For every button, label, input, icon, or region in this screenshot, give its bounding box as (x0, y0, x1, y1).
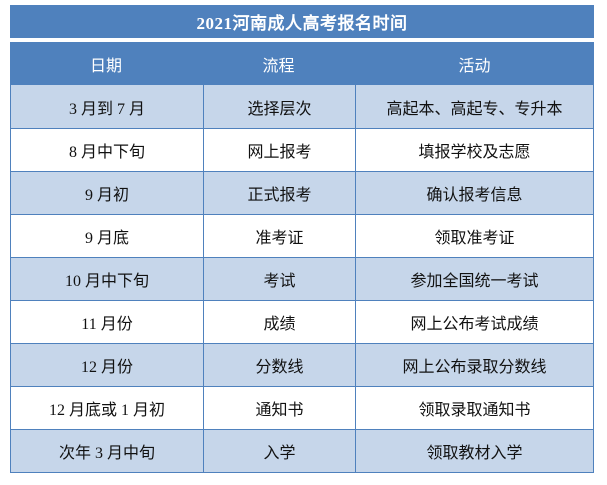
table-body: 3 月到 7 月选择层次高起本、高起专、专升本8 月中下旬网上报考填报学校及志愿… (10, 85, 594, 473)
cell-date: 次年 3 月中旬 (11, 430, 203, 472)
cell-activity: 领取教材入学 (356, 430, 593, 472)
cell-step: 网上报考 (203, 129, 356, 171)
table-row: 9 月初正式报考确认报考信息 (11, 171, 593, 214)
cell-activity: 参加全国统一考试 (356, 258, 593, 300)
cell-date: 8 月中下旬 (11, 129, 203, 171)
cell-step: 成绩 (203, 301, 356, 343)
cell-date: 12 月份 (11, 344, 203, 386)
cell-step: 准考证 (203, 215, 356, 257)
schedule-table: 2021河南成人高考报名时间 日期 流程 活动 3 月到 7 月选择层次高起本、… (10, 5, 594, 473)
cell-step: 入学 (203, 430, 356, 472)
column-header-activity: 活动 (355, 42, 594, 85)
table-title: 2021河南成人高考报名时间 (10, 5, 594, 38)
cell-activity: 网上公布录取分数线 (356, 344, 593, 386)
cell-activity: 填报学校及志愿 (356, 129, 593, 171)
table-row: 11 月份成绩网上公布考试成绩 (11, 300, 593, 343)
cell-date: 12 月底或 1 月初 (11, 387, 203, 429)
cell-date: 10 月中下旬 (11, 258, 203, 300)
table-row: 3 月到 7 月选择层次高起本、高起专、专升本 (11, 85, 593, 128)
cell-date: 9 月初 (11, 172, 203, 214)
table-row: 9 月底准考证领取准考证 (11, 214, 593, 257)
cell-step: 选择层次 (203, 85, 356, 128)
column-header-step: 流程 (202, 42, 355, 85)
table-row: 8 月中下旬网上报考填报学校及志愿 (11, 128, 593, 171)
cell-activity: 领取录取通知书 (356, 387, 593, 429)
cell-step: 分数线 (203, 344, 356, 386)
cell-step: 正式报考 (203, 172, 356, 214)
cell-activity: 高起本、高起专、专升本 (356, 85, 593, 128)
table-row: 12 月底或 1 月初通知书领取录取通知书 (11, 386, 593, 429)
cell-activity: 网上公布考试成绩 (356, 301, 593, 343)
cell-activity: 确认报考信息 (356, 172, 593, 214)
screenshot-canvas: 2021河南成人高考报名时间 日期 流程 活动 3 月到 7 月选择层次高起本、… (0, 0, 607, 485)
table-row: 10 月中下旬考试参加全国统一考试 (11, 257, 593, 300)
table-row: 次年 3 月中旬入学领取教材入学 (11, 429, 593, 472)
table-row: 12 月份分数线网上公布录取分数线 (11, 343, 593, 386)
table-header-row: 日期 流程 活动 (10, 42, 594, 85)
cell-date: 9 月底 (11, 215, 203, 257)
cell-step: 通知书 (203, 387, 356, 429)
cell-date: 11 月份 (11, 301, 203, 343)
cell-activity: 领取准考证 (356, 215, 593, 257)
cell-date: 3 月到 7 月 (11, 85, 203, 128)
cell-step: 考试 (203, 258, 356, 300)
column-header-date: 日期 (10, 42, 202, 85)
